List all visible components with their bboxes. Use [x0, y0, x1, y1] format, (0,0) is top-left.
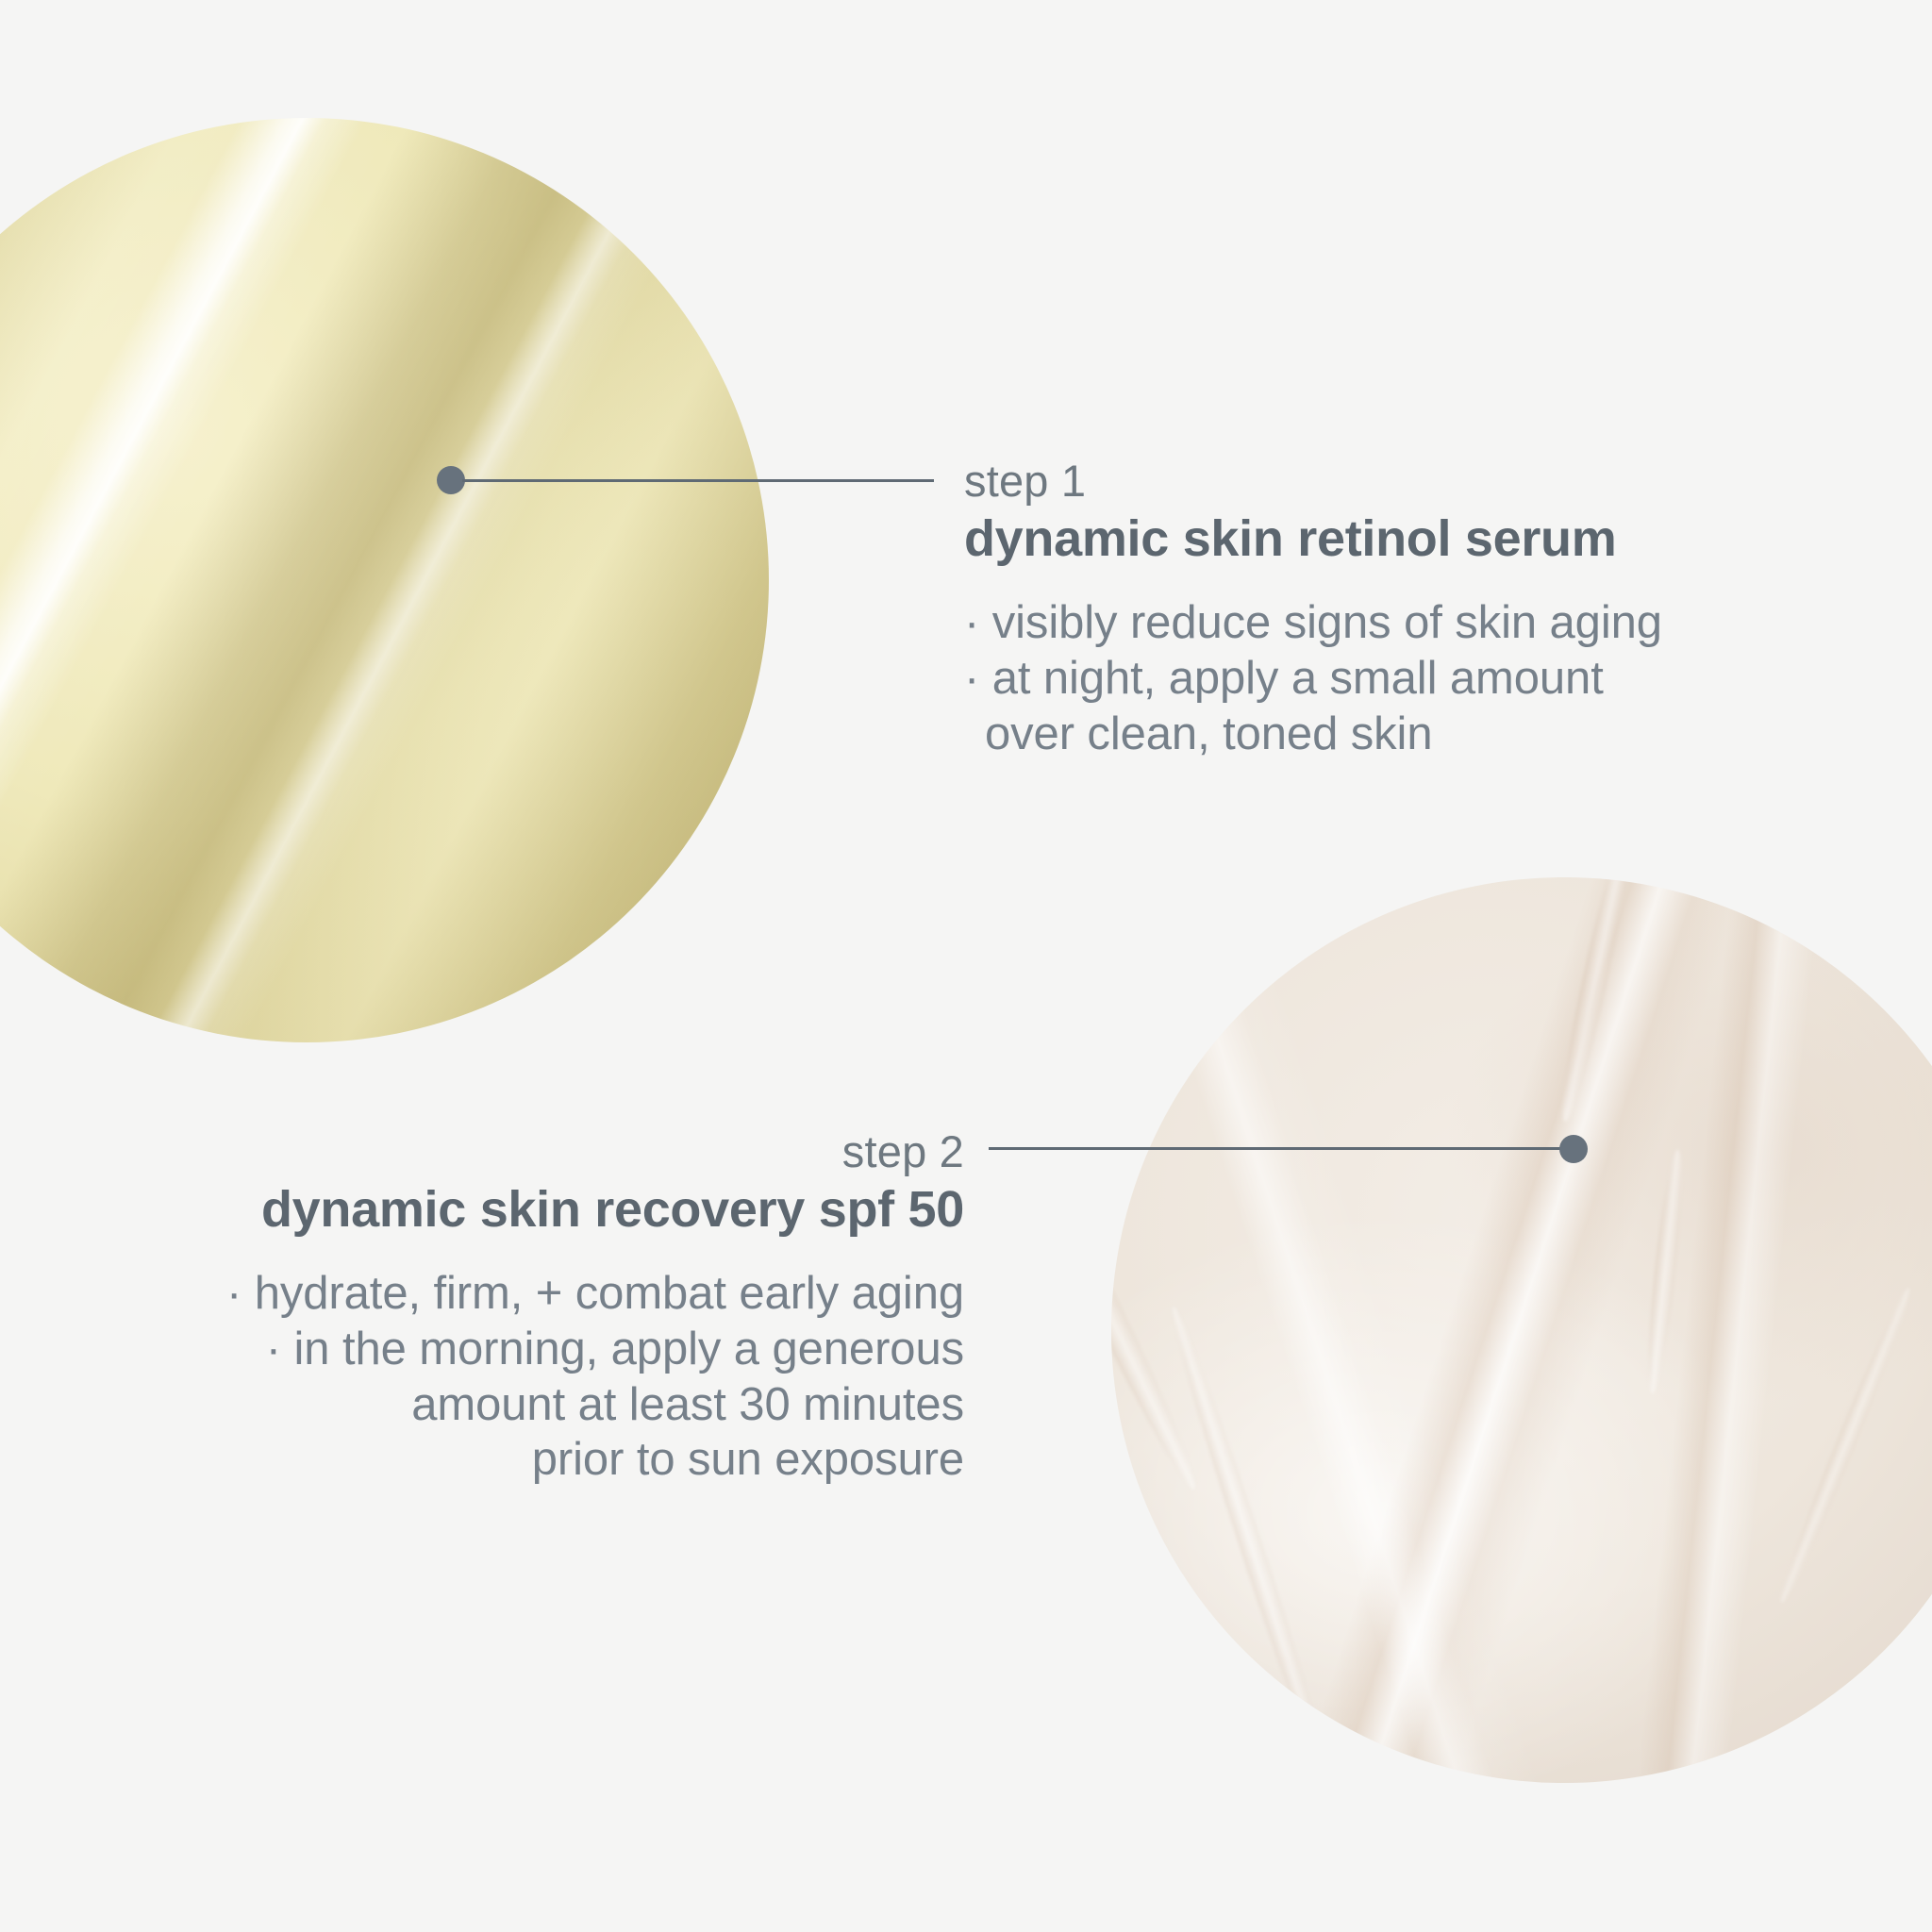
step2-bullet-1: · hydrate, firm, + combat early aging [104, 1266, 964, 1322]
step1-leader-line [462, 479, 934, 482]
step2-product-title: dynamic skin recovery spf 50 [104, 1176, 964, 1243]
step2-text-block: step 2 dynamic skin recovery spf 50 · hy… [104, 1128, 964, 1488]
step1-leader-dot [437, 466, 465, 494]
step2-label: step 2 [104, 1128, 964, 1176]
serum-edge-shading [0, 118, 769, 1042]
cream-edge-shading [1111, 877, 1932, 1783]
step2-leader-line [989, 1147, 1566, 1150]
step1-bullet-list: · visibly reduce signs of skin aging · a… [964, 595, 1662, 761]
step1-label: step 1 [964, 458, 1662, 506]
step2-bullet-2: · in the morning, apply a generous amoun… [104, 1322, 964, 1488]
step1-product-title: dynamic skin retinol serum [964, 506, 1662, 573]
step1-bullet-2: · at night, apply a small amount over cl… [964, 651, 1662, 762]
step2-bullet-list: · hydrate, firm, + combat early aging · … [104, 1266, 964, 1488]
step2-leader-dot [1559, 1135, 1588, 1163]
step1-text-block: step 1 dynamic skin retinol serum · visi… [964, 458, 1662, 761]
infographic-canvas: step 1 dynamic skin retinol serum · visi… [0, 0, 1932, 1932]
serum-texture-swatch [0, 118, 769, 1042]
spf-texture-swatch [1111, 877, 1932, 1783]
step1-bullet-1: · visibly reduce signs of skin aging [964, 595, 1662, 651]
